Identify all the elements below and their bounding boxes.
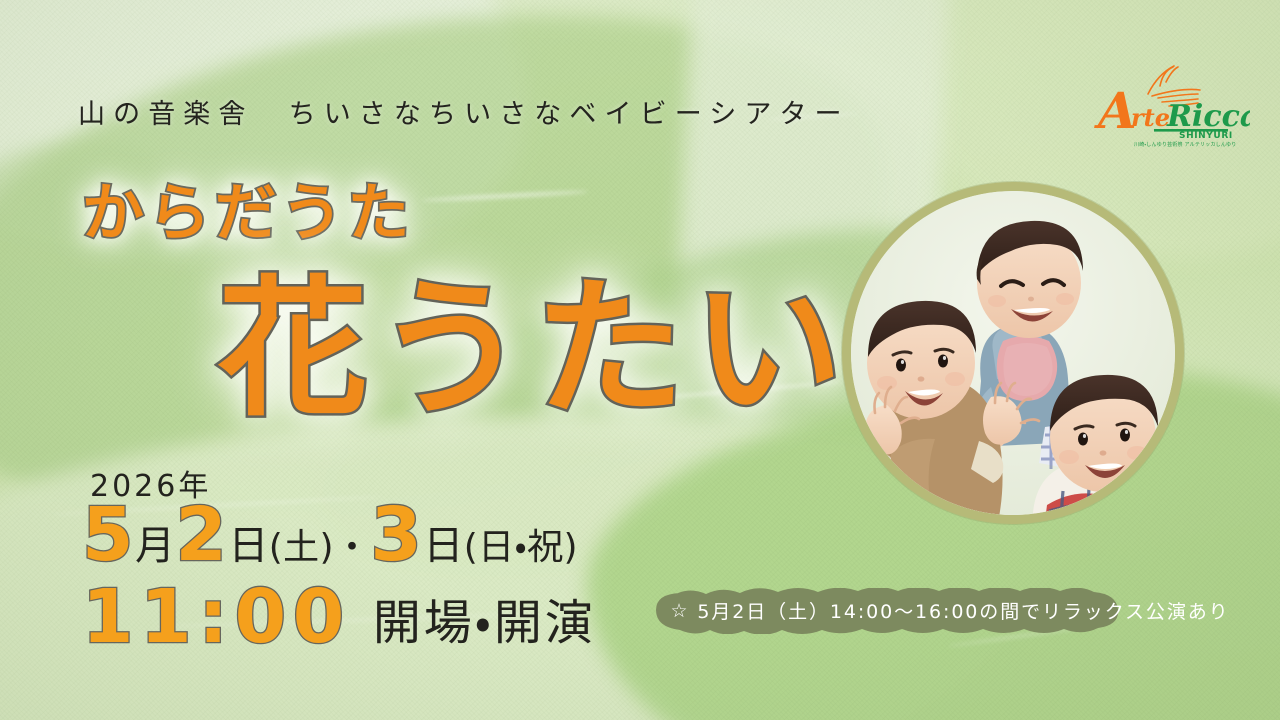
time-hour: 11 <box>82 582 198 653</box>
date-month-number: 5 <box>82 500 135 571</box>
photo-circle-frame <box>842 182 1184 524</box>
date-day2-number: 3 <box>370 500 423 571</box>
time-label: 開場・開演 <box>373 599 596 653</box>
banner-text-group: ☆ 5月2日（土）14:00〜16:00の間でリラックス公演あり <box>646 588 1254 634</box>
logo-word-ricca: Ricca <box>1166 99 1250 134</box>
event-time-line: 11 : 00 開場・開演 <box>82 582 596 653</box>
date-month-kanji: 月 <box>135 526 175 571</box>
babies-illustration <box>851 191 1175 515</box>
event-date-line: 5 月 2 日 (土) ・ 3 日 (日・祝) <box>82 500 578 571</box>
title-subtitle-karadauta: からだうた <box>82 182 414 244</box>
logo-tagline: 川崎・しんゆり芸術祭 アルテリッカしんゆり <box>1134 141 1236 148</box>
arte-ricca-logo[interactable]: A rte Ricca SHINYURI 川崎・しんゆり芸術祭 アルテリッカしん… <box>1074 56 1250 152</box>
photo-babies <box>851 191 1175 515</box>
time-colon: : <box>198 582 234 653</box>
date-day1-kanji: 日 <box>228 526 268 571</box>
date-separator: ・ <box>334 530 370 571</box>
title-main-hanautai: 花うたい <box>218 272 851 430</box>
logo-word-arte-rte: rte <box>1131 103 1170 132</box>
date-day2-weekday: (日・祝) <box>464 530 578 571</box>
poster-root: 山の音楽舎 ちいさなちいさなベイビーシアター A rte Ricca SHINY… <box>0 0 1280 720</box>
date-day1-weekday: (土) <box>269 530 334 571</box>
time-minute: 00 <box>235 582 351 653</box>
relax-performance-banner: ☆ 5月2日（土）14:00〜16:00の間でリラックス公演あり <box>646 588 1254 634</box>
header-presenter-line: 山の音楽舎 ちいさなちいさなベイビーシアター <box>78 92 850 131</box>
date-day1-number: 2 <box>175 500 228 571</box>
star-icon: ☆ <box>670 600 689 622</box>
logo-word-shinyuri: SHINYURI <box>1179 131 1233 141</box>
date-day2-kanji: 日 <box>423 526 463 571</box>
banner-text: 5月2日（土）14:00〜16:00の間でリラックス公演あり <box>697 597 1229 624</box>
